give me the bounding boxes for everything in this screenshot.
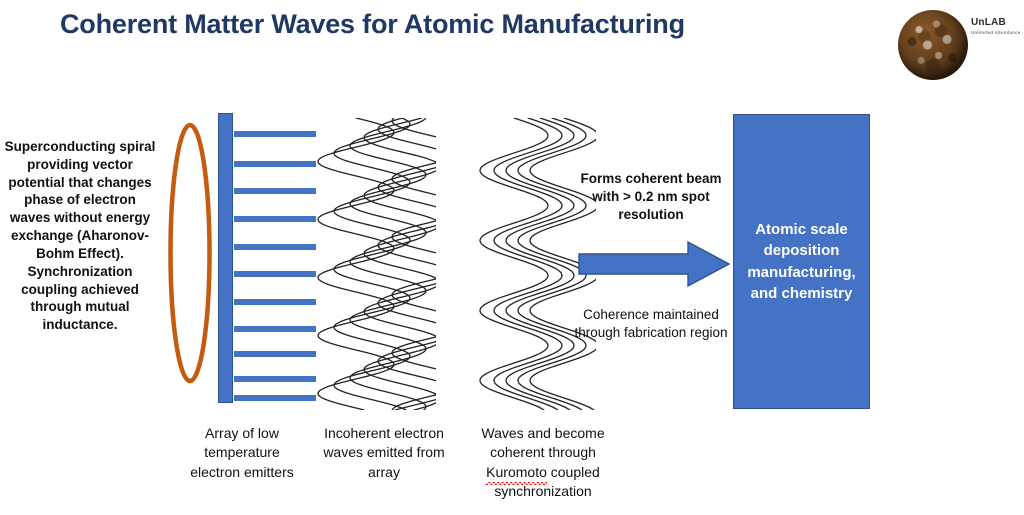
logo-text-block: UnLAB Unlimited Abundance (971, 18, 1021, 35)
page-title: Coherent Matter Waves for Atomic Manufac… (60, 8, 840, 40)
beam-resolution-note: Forms coherent beam with > 0.2 nm spot r… (572, 170, 730, 225)
superconducting-spiral-note: Superconducting spiral providing vector … (4, 138, 156, 334)
slide-canvas: Coherent Matter Waves for Atomic Manufac… (0, 0, 1024, 515)
caption-coherent-waves: Waves and become coherent through Kuromo… (462, 424, 624, 501)
incoherent-electron-waves (312, 118, 436, 410)
emitter-tine (234, 351, 316, 357)
emitter-tine (234, 395, 316, 401)
emitter-tine (234, 161, 316, 167)
coherent-beam-arrow (578, 240, 730, 288)
logo-tagline: Unlimited Abundance (971, 31, 1021, 35)
caption-emitter-array: Array of low temperature electron emitte… (182, 424, 302, 482)
wave-path (480, 118, 548, 410)
logo: UnLAB Unlimited Abundance (893, 4, 1021, 84)
coherence-region-note: Coherence maintained through fabrication… (572, 306, 730, 342)
caption-incoherent-waves: Incoherent electron waves emitted from a… (318, 424, 450, 482)
emitter-tine (234, 216, 316, 222)
emitter-tine (234, 326, 316, 332)
emitter-tine (234, 131, 316, 137)
emitter-tine (234, 271, 316, 277)
output-box-label: Atomic scale deposition manufacturing, a… (734, 219, 869, 304)
wave-path (392, 118, 436, 410)
superconducting-spiral (167, 122, 213, 384)
emitter-tine (234, 376, 316, 382)
emitter-tine (234, 188, 316, 194)
logo-name: UnLAB (971, 18, 1021, 28)
spellcheck-misspelled-word: Kuromoto (486, 463, 547, 482)
emitter-backplane (218, 113, 233, 403)
emitter-tine (234, 244, 316, 250)
emitter-tine (234, 299, 316, 305)
atomic-manufacturing-output: Atomic scale deposition manufacturing, a… (733, 114, 870, 409)
caption-coherent-prefix: Waves and become coherent through (481, 425, 604, 460)
wave-path (518, 118, 586, 410)
wave-path (334, 118, 410, 410)
electron-emitter-array (218, 113, 318, 403)
porous-sphere-icon (898, 10, 968, 80)
